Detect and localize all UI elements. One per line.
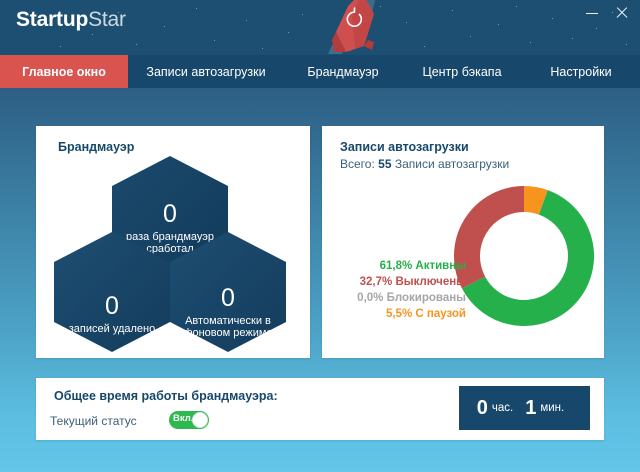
uptime-panel: Общее время работы брандмауэра: Текущий … (36, 378, 604, 440)
hex-automatic-background[interactable]: 0 Автоматически в фоновом режиме (170, 232, 286, 352)
nav-bar: Главное окно Записи автозагрузки Брандма… (0, 55, 640, 88)
uptime-minutes-value: 1 (525, 397, 536, 420)
uptime-time-display: 0 час. 1 мин. (459, 386, 590, 430)
firewall-status-toggle[interactable]: Вкл. (169, 411, 209, 429)
tab-backup-center[interactable]: Центр бэкапа (402, 55, 522, 88)
tab-startup-entries[interactable]: Записи автозагрузки (128, 55, 284, 88)
legend-name: Выключены (395, 276, 466, 288)
legend-name: Активны (415, 260, 466, 272)
toggle-label: Вкл. (173, 413, 193, 424)
legend-item-disabled: 32,7% Выключены (330, 274, 466, 290)
uptime-status-label: Текущий статус (50, 414, 137, 428)
legend-pct: 5,5% (386, 308, 412, 320)
hex-entries-deleted[interactable]: 0 записей удалено (54, 232, 170, 352)
legend-pct: 32,7% (360, 276, 393, 288)
firewall-hexagon-group: 0 раза брандмауэр сработал 0 з (36, 154, 310, 358)
app-brand: StartupStar (16, 8, 126, 32)
firewall-panel: Брандмауэр 0 раза брандмауэр сработал (36, 126, 310, 358)
tab-firewall[interactable]: Брандмауэр (284, 55, 402, 88)
app-window: StartupStar (0, 0, 640, 472)
total-prefix: Всего: (340, 157, 375, 171)
toggle-knob[interactable] (192, 412, 208, 428)
legend-name: Блокированы (387, 292, 466, 304)
uptime-title: Общее время работы брандмауэра: (54, 389, 278, 403)
firewall-panel-title: Брандмауэр (58, 140, 134, 154)
tab-main-window[interactable]: Главное окно (0, 55, 128, 88)
startup-entries-panel: Записи автозагрузки Всего: 55 Записи авт… (322, 126, 604, 358)
rocket-icon (318, 0, 388, 55)
minimize-icon[interactable] (584, 5, 600, 21)
uptime-minutes-unit: мин. (540, 402, 564, 414)
window-controls (584, 5, 630, 21)
title-bar: StartupStar (0, 0, 640, 55)
brand-primary: Startup (16, 8, 88, 31)
legend-item-blocked: 0,0% Блокированы (330, 290, 466, 306)
tab-settings[interactable]: Настройки (522, 55, 640, 88)
legend-pct: 61,8% (380, 260, 413, 272)
legend-name: С паузой (415, 308, 466, 320)
legend-pct: 0,0% (357, 292, 383, 304)
close-icon[interactable] (614, 5, 630, 21)
startup-total-line: Всего: 55 Записи автозагрузки (340, 157, 509, 171)
startup-donut-chart (450, 182, 598, 330)
legend-item-active: 61,8% Активны (330, 258, 466, 274)
uptime-hours-value: 0 (477, 397, 488, 420)
donut-legend: 61,8% Активны 32,7% Выключены 0,0% Блоки… (330, 258, 466, 322)
brand-secondary: Star (88, 8, 126, 31)
total-suffix: Записи автозагрузки (395, 157, 509, 171)
startup-panel-title: Записи автозагрузки (340, 140, 469, 154)
uptime-hours-unit: час. (492, 402, 513, 414)
legend-item-paused: 5,5% С паузой (330, 306, 466, 322)
total-value: 55 (378, 157, 391, 171)
